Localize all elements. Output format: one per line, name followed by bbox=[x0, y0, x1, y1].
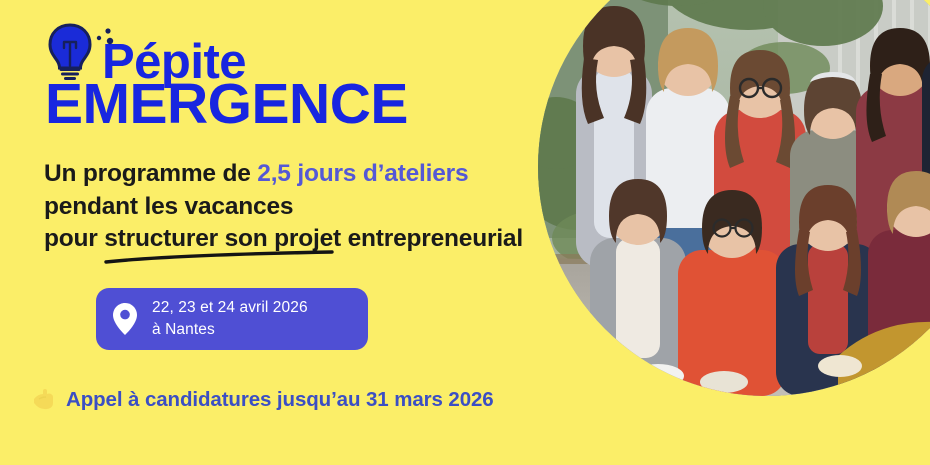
badge-city: à Nantes bbox=[152, 321, 215, 338]
headline-highlight: 2,5 jours d’ateliers bbox=[257, 160, 468, 187]
call-to-action: Appel à candidatures jusqu’au 31 mars 20… bbox=[32, 388, 494, 412]
badge-text: 22, 23 et 24 avril 2026 à Nantes bbox=[152, 297, 308, 341]
headline-line-3: pour structurer son projet entrepreneuri… bbox=[44, 223, 544, 256]
poster-canvas: Pépite EMERGENCE Un programme de 2,5 jou… bbox=[0, 0, 930, 465]
badge-dates: 22, 23 et 24 avril 2026 bbox=[152, 299, 308, 316]
headline: Un programme de 2,5 jours d’ateliers pen… bbox=[44, 158, 544, 256]
group-photo-circle bbox=[538, 0, 930, 396]
location-pin-icon bbox=[112, 302, 138, 336]
date-location-badge[interactable]: 22, 23 et 24 avril 2026 à Nantes bbox=[96, 288, 368, 350]
lightbulb-icon bbox=[44, 22, 96, 84]
pointing-hand-icon bbox=[32, 388, 58, 412]
headline-line-1: Un programme de 2,5 jours d’ateliers bbox=[44, 158, 544, 191]
logo-word-pepite: Pépite bbox=[102, 39, 246, 86]
headline-line-2: pendant les vacances bbox=[44, 191, 544, 224]
group-photo-illustration bbox=[538, 0, 930, 396]
sparkle-dots-icon bbox=[92, 26, 118, 48]
cta-text: Appel à candidatures jusqu’au 31 mars 20… bbox=[66, 388, 494, 412]
headline-line-1-prefix: Un programme de bbox=[44, 160, 257, 187]
